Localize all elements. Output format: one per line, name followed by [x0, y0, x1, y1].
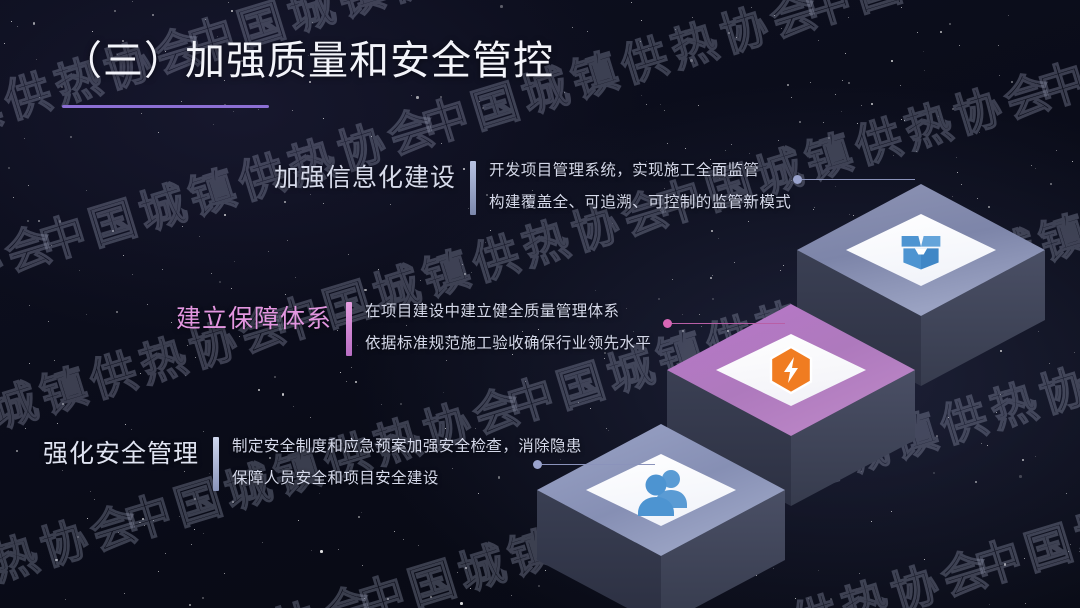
- connector-dot-1: [793, 175, 802, 184]
- title-block: （三）加强质量和安全管控: [62, 38, 554, 108]
- page-title: （三）加强质量和安全管控: [62, 38, 554, 84]
- bullet-item-3-description: 制定安全制度和应急预案加强安全检查，消除隐患 保障人员安全和项目安全建设: [232, 431, 582, 495]
- connector-dot-2: [663, 319, 672, 328]
- connector-stroke-1: [802, 179, 915, 180]
- bullet-item-1-description: 开发项目管理系统，实现施工全面监管 构建覆盖全、可追溯、可控制的监管新模式: [489, 155, 791, 219]
- bullet-item-1-heading: 加强信息化建设: [274, 155, 456, 194]
- bullet-item-2[interactable]: 建立保障体系 在项目建设中建立健全质量管理体系 依据标准规范施工验收确保行业领先…: [176, 296, 651, 360]
- bullet-item-3-line-1: 制定安全制度和应急预案加强安全检查，消除隐患: [232, 431, 582, 463]
- bullet-item-3-heading: 强化安全管理: [43, 431, 199, 470]
- bullet-item-2-divider: [346, 302, 352, 356]
- bullet-item-2-line-1: 在项目建设中建立健全质量管理体系: [365, 296, 651, 328]
- bullet-item-1-line-2: 构建覆盖全、可追溯、可控制的监管新模式: [489, 187, 791, 219]
- slide-canvas: 中国城镇供热协会中国城镇供热协会中国城镇供热协会中国城镇供热协会中国城镇供热协会…: [0, 0, 1080, 608]
- bullet-item-3[interactable]: 强化安全管理 制定安全制度和应急预案加强安全检查，消除隐患 保障人员安全和项目安…: [43, 431, 582, 495]
- bullet-item-1-divider: [470, 161, 476, 215]
- hexagon-bolt-icon: [771, 347, 811, 393]
- bullet-item-2-line-2: 依据标准规范施工验收确保行业领先水平: [365, 328, 651, 360]
- bullet-item-1[interactable]: 加强信息化建设 开发项目管理系统，实现施工全面监管 构建覆盖全、可追溯、可控制的…: [274, 155, 791, 219]
- bullet-item-2-description: 在项目建设中建立健全质量管理体系 依据标准规范施工验收确保行业领先水平: [365, 296, 651, 360]
- title-underline: [62, 105, 269, 108]
- connector-line-2: [663, 318, 785, 328]
- connector-line-1: [793, 174, 915, 184]
- connector-stroke-2: [672, 323, 785, 324]
- bullet-item-2-heading: 建立保障体系: [176, 296, 332, 335]
- bullet-item-3-line-2: 保障人员安全和项目安全建设: [232, 463, 582, 495]
- bullet-item-3-divider: [213, 437, 219, 491]
- bullet-item-1-line-1: 开发项目管理系统，实现施工全面监管: [489, 155, 791, 187]
